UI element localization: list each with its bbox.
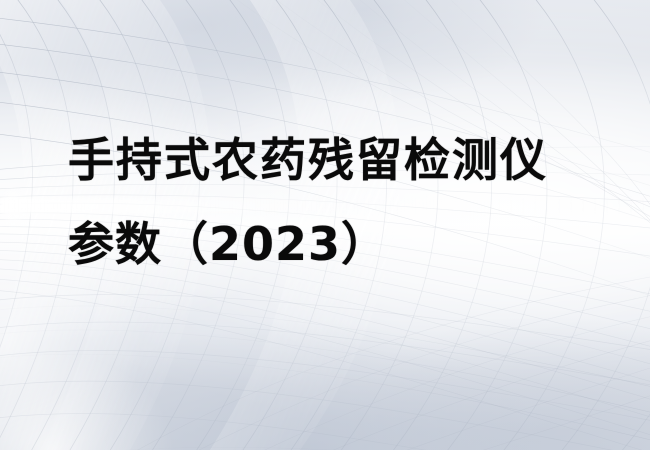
page-title: 手持式农药残留检测仪 参数（2023） [68,118,628,286]
title-banner: 手持式农药残留检测仪 参数（2023） [0,0,650,450]
title-line-2: 参数（2023） [68,202,628,286]
title-line-1: 手持式农药残留检测仪 [68,118,628,202]
